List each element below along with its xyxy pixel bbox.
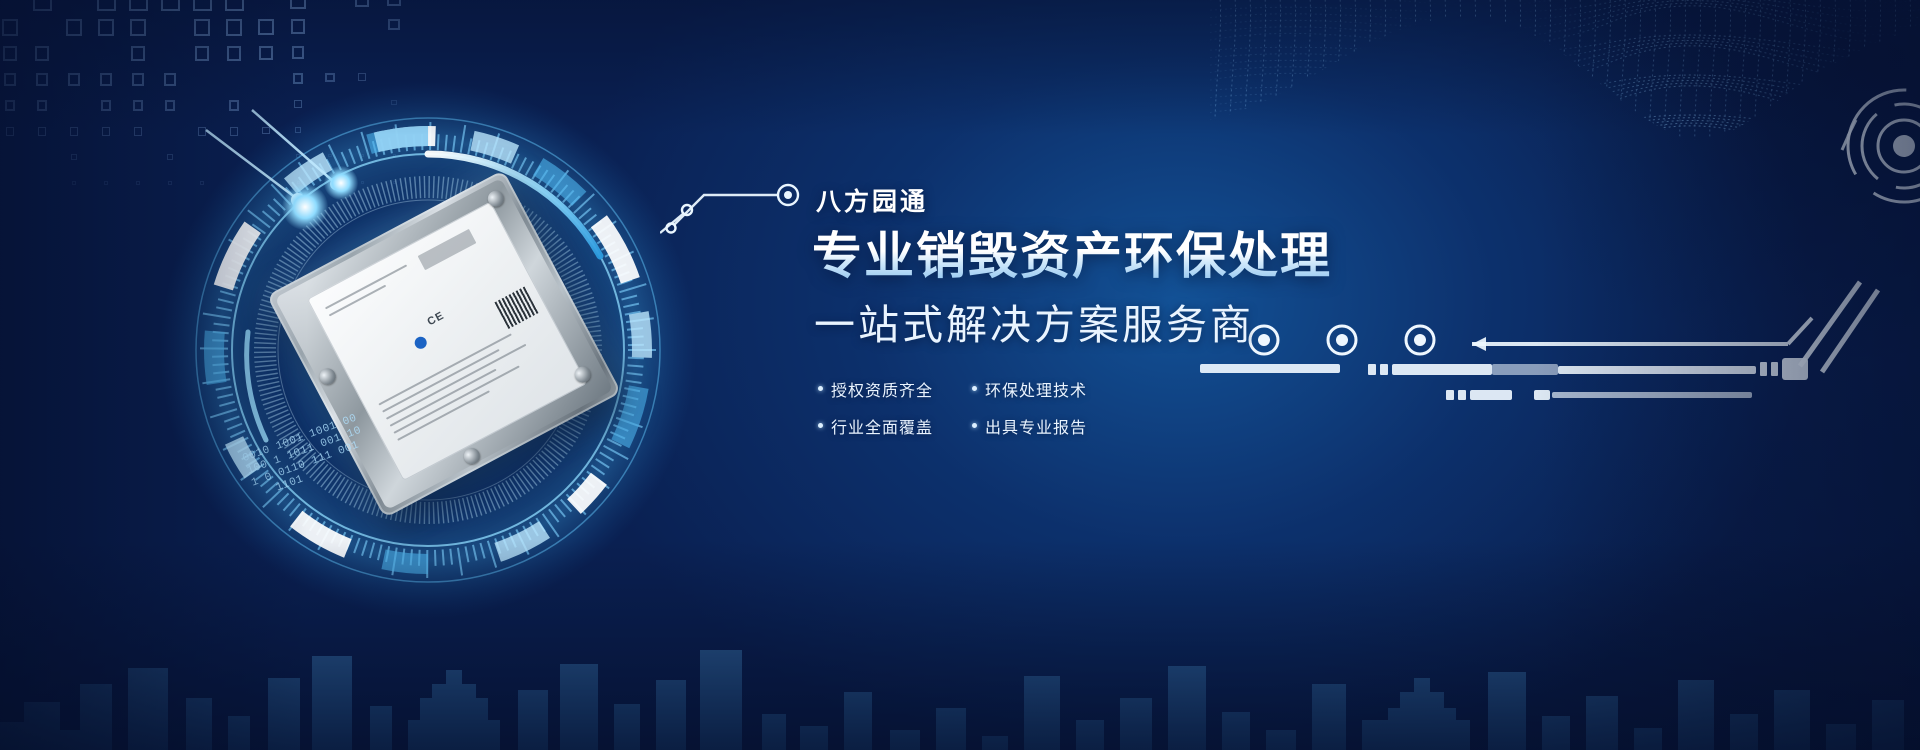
bullet-dot-icon bbox=[818, 386, 823, 391]
feature-label: 行业全面覆盖 bbox=[831, 414, 933, 438]
promo-banner: CE 0010 1001 1001 00 100 1 1011 001 10 1… bbox=[0, 0, 1920, 750]
bullet-dot-icon bbox=[818, 423, 823, 428]
feature-item: 出具专业报告 bbox=[972, 414, 1108, 438]
feature-item: 行业全面覆盖 bbox=[818, 414, 954, 438]
feature-item: 授权资质齐全 bbox=[818, 377, 954, 401]
feature-label: 出具专业报告 bbox=[985, 414, 1087, 438]
feature-list: 授权资质齐全环保处理技术行业全面覆盖出具专业报告 bbox=[818, 377, 1532, 438]
brand-name: 八方园通 bbox=[816, 182, 1532, 218]
banner-headline: 专业销毁资产环保处理 bbox=[812, 230, 1532, 283]
feature-label: 环保处理技术 bbox=[985, 377, 1087, 401]
banner-subheadline: 一站式解决方案服务商 bbox=[814, 291, 1532, 351]
banner-text-block: 八方园通 专业销毁资产环保处理 一站式解决方案服务商 授权资质齐全环保处理技术行… bbox=[812, 182, 1532, 438]
feature-label: 授权资质齐全 bbox=[831, 377, 933, 401]
bullet-dot-icon bbox=[972, 423, 977, 428]
feature-item: 环保处理技术 bbox=[972, 377, 1108, 401]
bullet-dot-icon bbox=[972, 386, 977, 391]
